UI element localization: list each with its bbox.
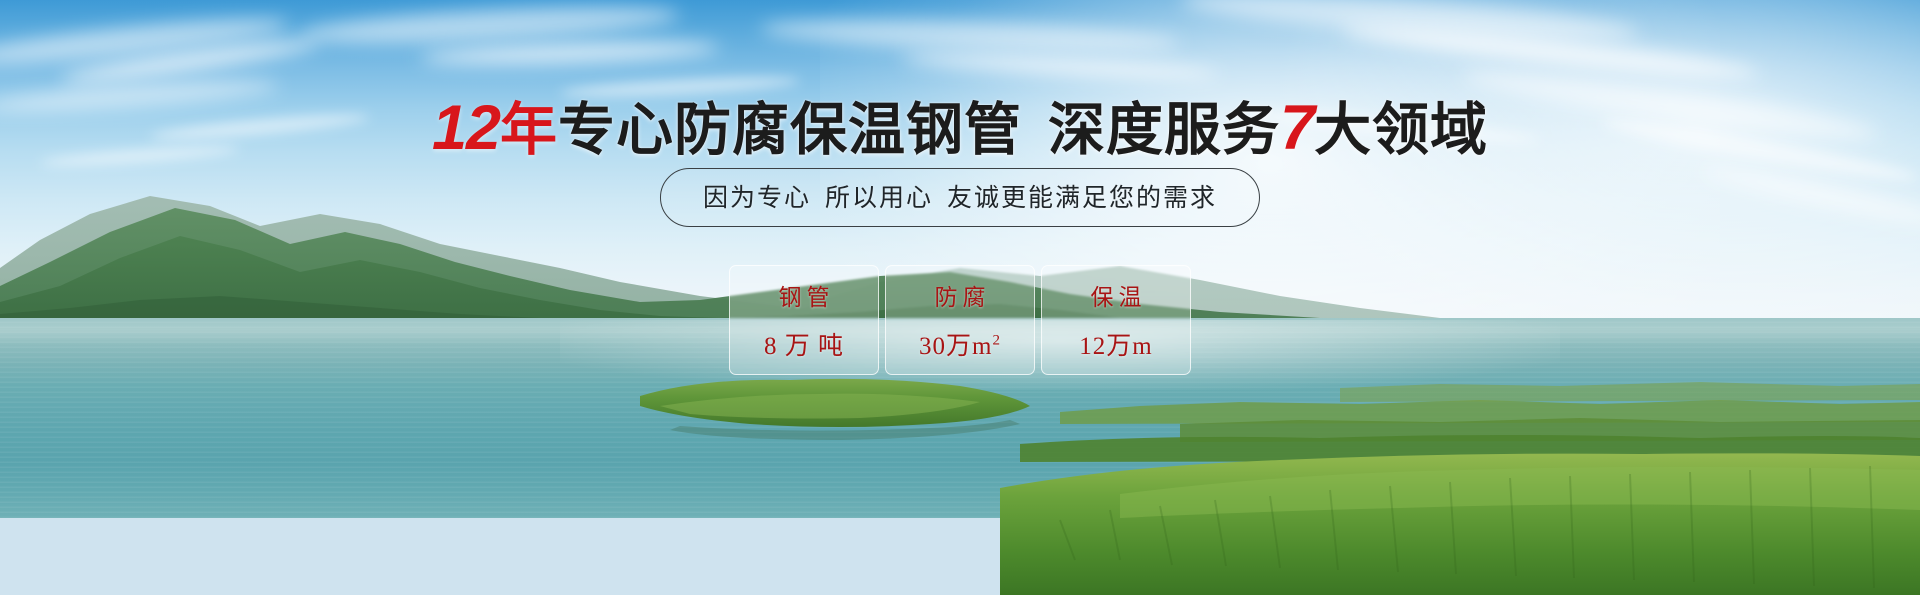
headline-main-text: 专心防腐保温钢管 (558, 98, 1022, 162)
headline-second-text: 深度服务 (1048, 98, 1280, 162)
subtitle-part-3: 友诚更能满足您的需求 (947, 184, 1217, 212)
hero-banner: 12年专心防腐保温钢管深度服务7大领域 因为专心所以用心友诚更能满足您的需求 钢… (0, 0, 1920, 595)
subtitle-part-2: 所以用心 (825, 184, 933, 212)
stat-card-anticorrosion: 防腐 30万m2 (885, 265, 1035, 375)
stat-card-value-text: 12万m (1079, 333, 1152, 360)
stat-card-value: 8 万 吨 (764, 326, 844, 362)
stat-card-value: 12万m (1079, 326, 1152, 362)
stat-card-title: 钢管 (774, 278, 835, 312)
stat-card-title: 防腐 (930, 278, 991, 312)
stat-card-insulation: 保温 12万m (1041, 265, 1191, 375)
stat-card-title: 保温 (1086, 278, 1147, 312)
headline-years-number: 12 (432, 93, 500, 163)
stat-card-value-text: 8 万 吨 (764, 333, 844, 360)
banner-headline: 12年专心防腐保温钢管深度服务7大领域 (0, 84, 1920, 166)
headline-areas-text: 大领域 (1314, 98, 1488, 162)
stat-card-value-superscript: 2 (992, 333, 1001, 349)
stat-card-group: 钢管 8 万 吨 防腐 30万m2 保温 12万m (729, 265, 1191, 375)
subtitle-pill: 因为专心所以用心友诚更能满足您的需求 (660, 168, 1260, 227)
stat-card-value-text: 30万m (919, 333, 992, 360)
subtitle-part-1: 因为专心 (703, 184, 811, 212)
banner-content: 12年专心防腐保温钢管深度服务7大领域 因为专心所以用心友诚更能满足您的需求 钢… (0, 0, 1920, 595)
headline-years-unit: 年 (500, 98, 558, 162)
stat-card-value: 30万m2 (919, 326, 1001, 362)
headline-areas-number: 7 (1280, 93, 1314, 163)
stat-card-steel-pipe: 钢管 8 万 吨 (729, 265, 879, 375)
